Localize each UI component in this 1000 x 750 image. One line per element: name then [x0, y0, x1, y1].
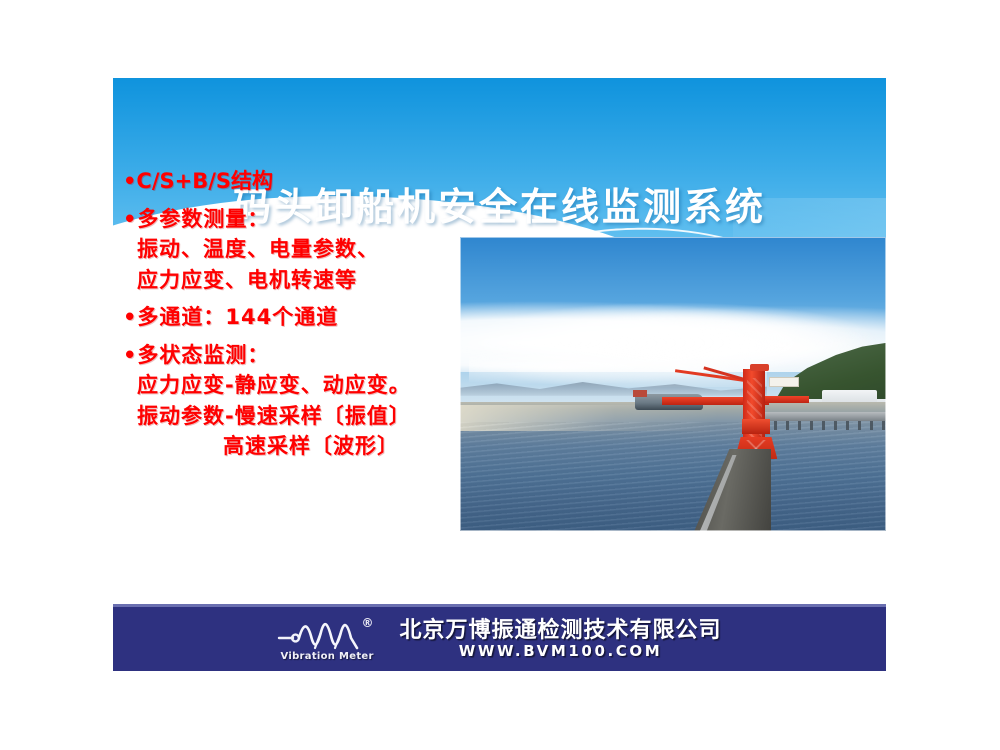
slide-footer: ® Vibration Meter 北京万博振通检测技术有限公司 WWW.BVM… — [113, 607, 886, 671]
photo-ship-bow — [633, 390, 648, 397]
company-website: WWW.BVM100.COM — [399, 643, 721, 660]
presentation-slide: 码头卸船机安全在线监测系统 •C/S+B/S结构 •多参数测量： 振动、温度、电… — [0, 0, 1000, 750]
photo-jetty-piles — [750, 421, 886, 430]
list-item: •C/S+B/S结构 — [123, 170, 543, 194]
footer-text-block: 北京万博振通检测技术有限公司 WWW.BVM100.COM — [399, 619, 721, 660]
logo-wordmark: Vibration Meter — [280, 651, 373, 662]
list-item: •多参数测量： — [123, 208, 543, 232]
crane-machine-house — [750, 364, 769, 371]
company-logo: ® Vibration Meter — [277, 616, 385, 662]
crane-operator-cab — [742, 419, 770, 434]
dock-crane-photo — [460, 237, 886, 531]
crane-signboard — [769, 377, 799, 388]
registered-trademark-icon: ® — [361, 616, 373, 630]
photo-water-ripples — [460, 422, 886, 531]
crane-boom-right — [762, 396, 809, 403]
company-name: 北京万博振通检测技术有限公司 — [399, 619, 721, 642]
